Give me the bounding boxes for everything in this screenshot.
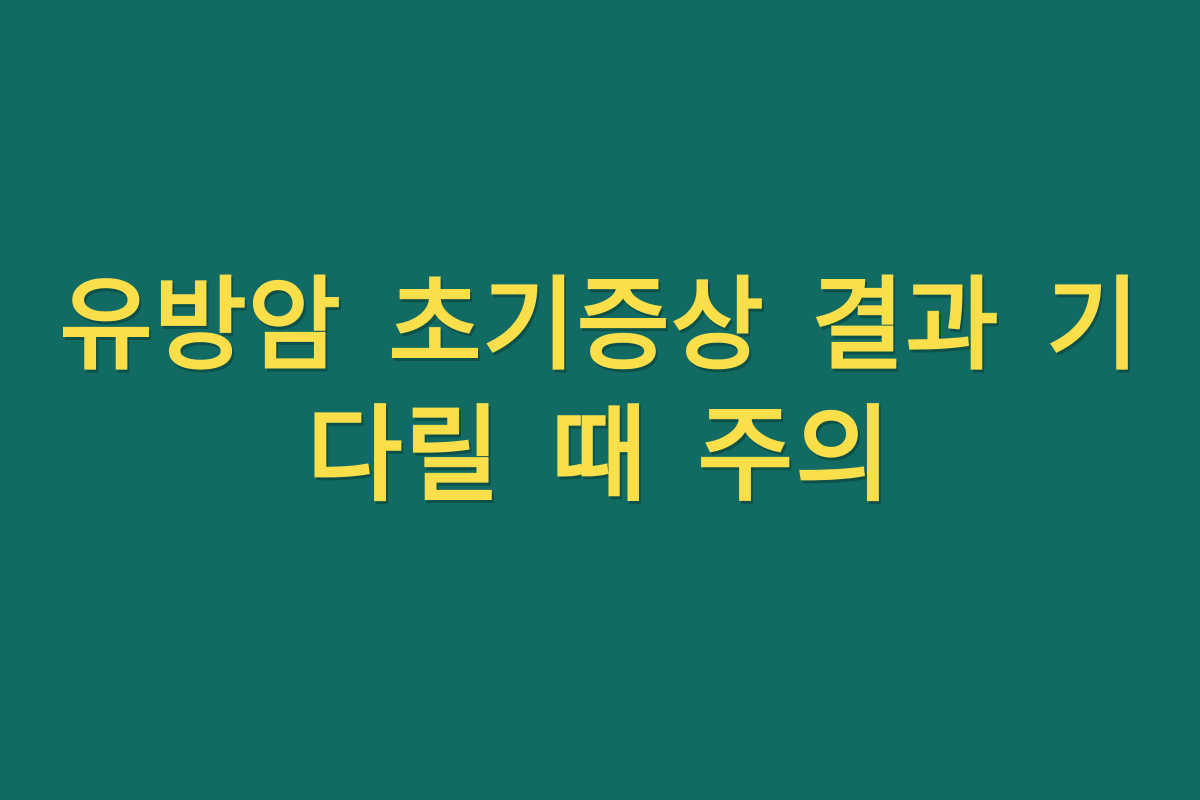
- title-line-1: 유방암 초기증상 결과 기: [55, 261, 1145, 389]
- thumbnail-card: 유방암 초기증상 결과 기 다릴 때 주의: [0, 0, 1200, 800]
- page-title: 유방암 초기증상 결과 기 다릴 때 주의: [55, 261, 1145, 521]
- title-line-2: 다릴 때 주의: [55, 389, 1145, 521]
